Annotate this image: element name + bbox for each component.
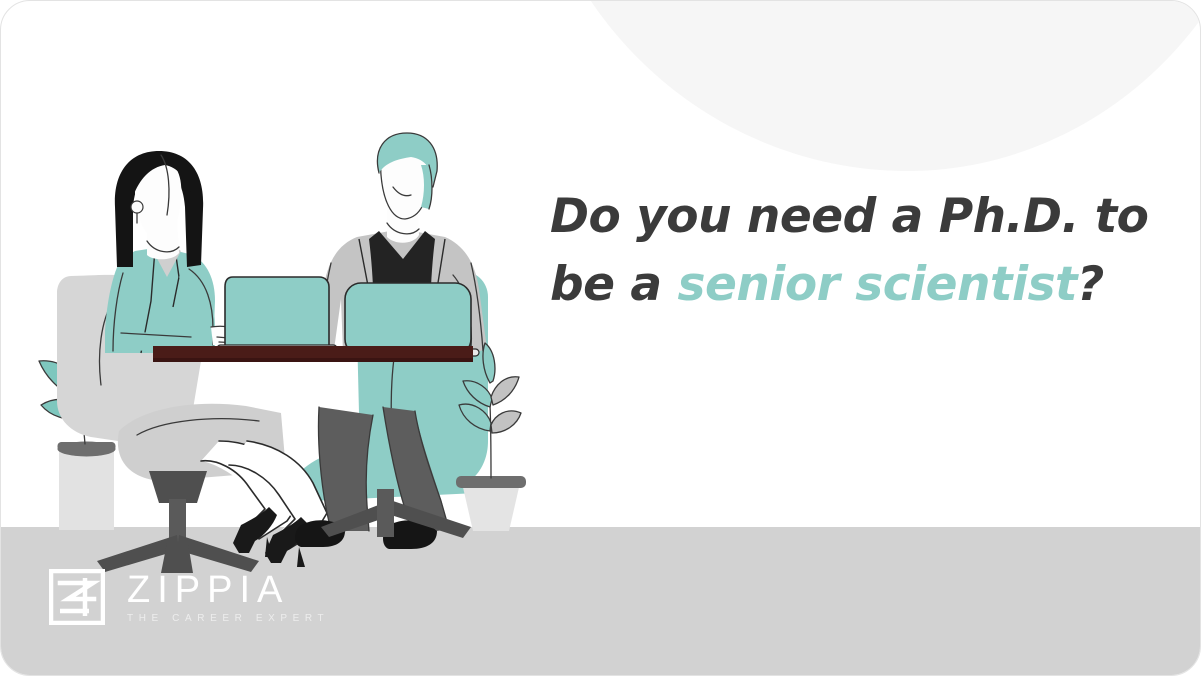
headline-accent: senior scientist bbox=[677, 257, 1077, 312]
headline-line-1: Do you need a Ph.D. to bbox=[550, 183, 1150, 251]
headline: Do you need a Ph.D. to be a senior scien… bbox=[550, 183, 1150, 319]
desk bbox=[153, 346, 473, 362]
headline-prefix: be a bbox=[550, 257, 677, 312]
laptop-right bbox=[337, 283, 479, 356]
zippia-logo-text: ZIPPIA THE CAREER EXPERT bbox=[127, 571, 329, 624]
laptop-left bbox=[217, 277, 337, 352]
background-blob-decoration bbox=[521, 0, 1201, 171]
zippia-z-mark-icon bbox=[49, 569, 105, 625]
zippia-wordmark: ZIPPIA bbox=[127, 571, 329, 609]
headline-suffix: ? bbox=[1077, 257, 1104, 312]
promo-card: .ol { fill:none; stroke:#2b2b2b; stroke-… bbox=[0, 0, 1201, 676]
zippia-logo[interactable]: ZIPPIA THE CAREER EXPERT bbox=[49, 569, 329, 625]
zippia-tagline: THE CAREER EXPERT bbox=[127, 614, 329, 624]
headline-line-2: be a senior scientist? bbox=[550, 251, 1150, 319]
